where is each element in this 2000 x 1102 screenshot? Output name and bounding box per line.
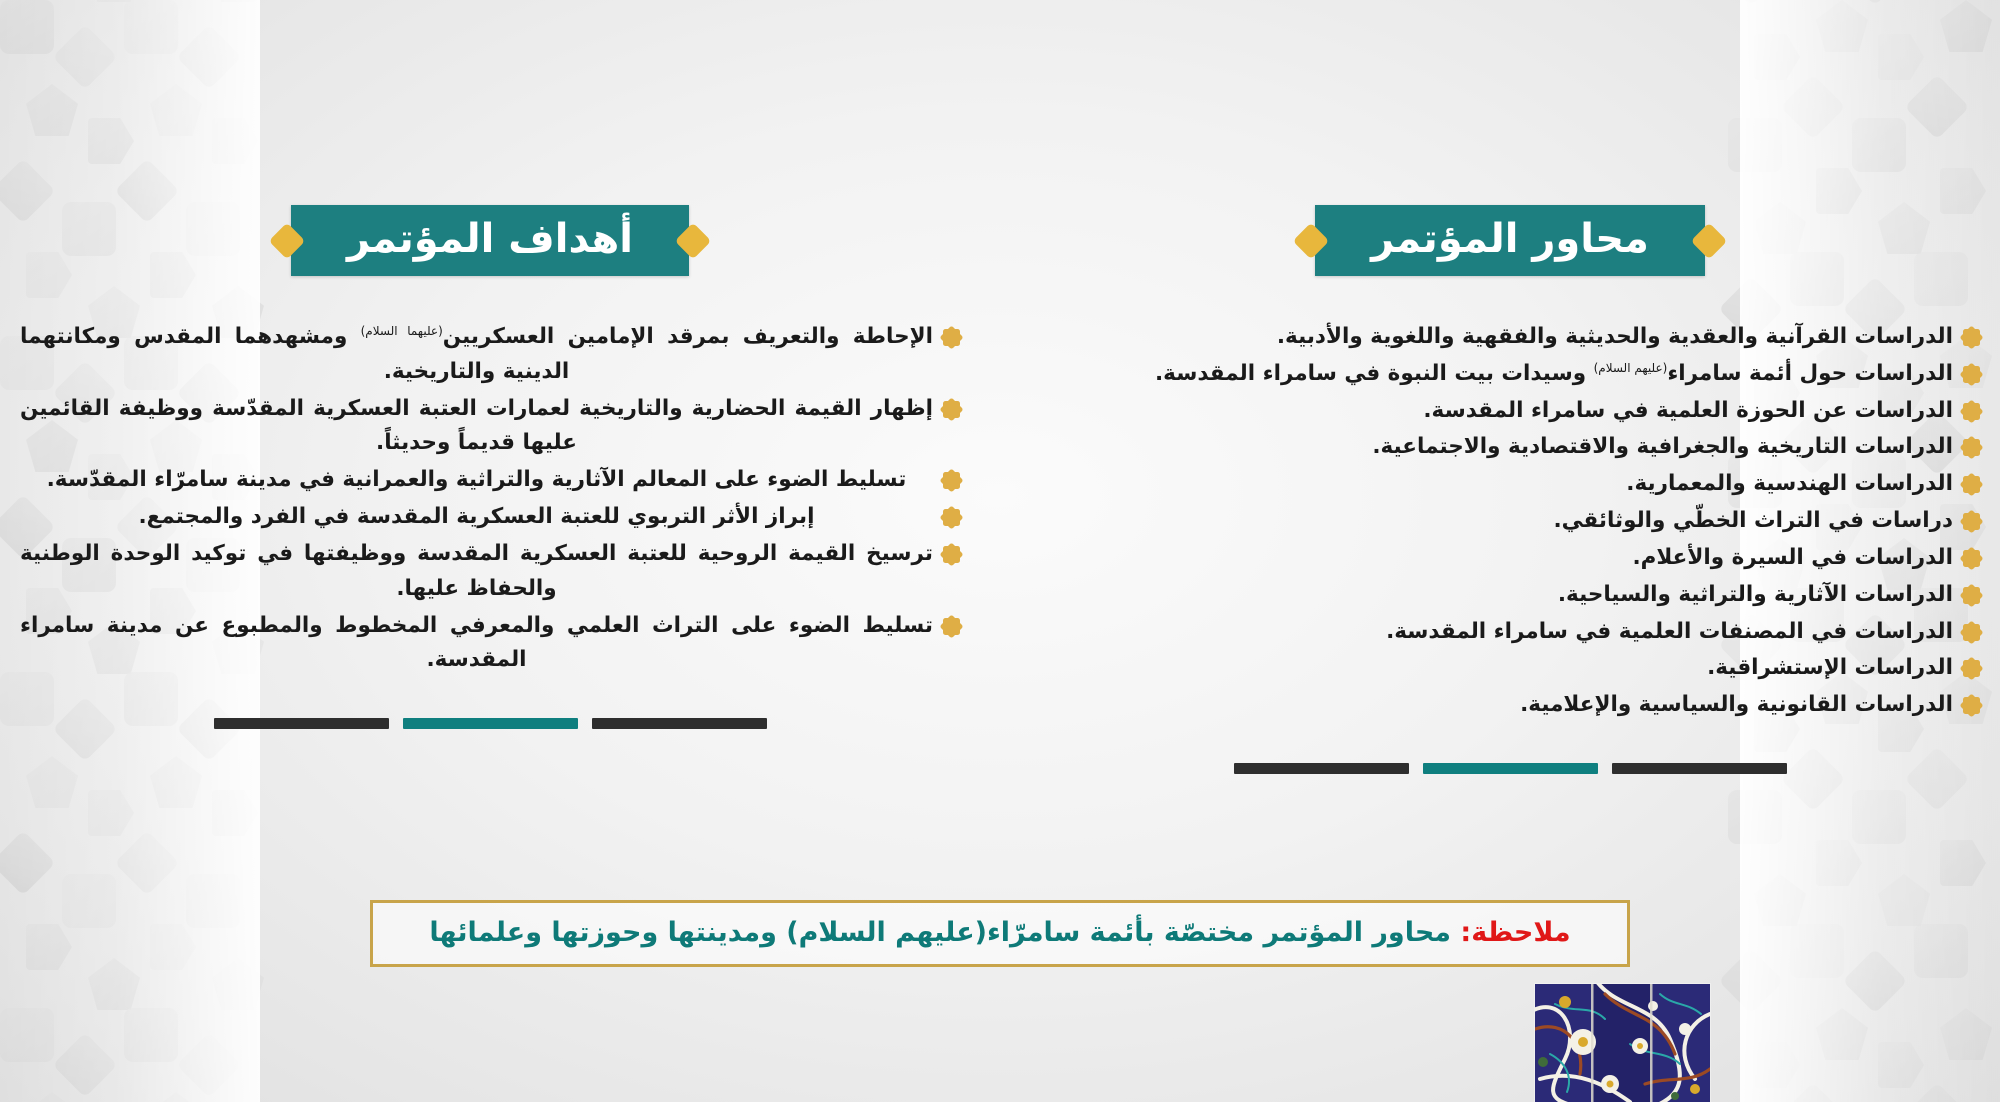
theme-item-text: الدراسات الآثارية والتراثية والسياحية. <box>1040 578 1953 613</box>
objective-item: تسليط الضوء على المعالم الآثارية والتراث… <box>20 463 960 498</box>
objective-item-text: تسليط الضوء على المعالم الآثارية والتراث… <box>20 463 933 498</box>
theme-item: الدراسات حول أئمة سامراء(عليهم السلام) و… <box>1040 357 1980 392</box>
conference-poster-slide: محاور المؤتمر الدراسات القرآنية والعقدية… <box>0 0 2000 1102</box>
objective-item: إظهار القيمة الحضارية والتاريخية لعمارات… <box>20 392 960 462</box>
themes-heading-group: محاور المؤتمر <box>1040 205 1980 276</box>
theme-item: الدراسات في السيرة والأعلام. <box>1040 541 1980 576</box>
objective-item-text: إبراز الأثر التربوي للعتبة العسكرية المق… <box>20 500 933 535</box>
divider-bar-dark <box>1612 763 1787 774</box>
star-bullet-icon <box>943 618 960 635</box>
star-bullet-icon <box>943 472 960 489</box>
divider-bar-dark <box>214 718 389 729</box>
objective-item: تسليط الضوء على التراث العلمي والمعرفي ا… <box>20 609 960 679</box>
objectives-list: الإحاطة والتعريف بمرقد الإمامين العسكريي… <box>20 320 960 678</box>
star-bullet-icon <box>1963 403 1980 420</box>
objectives-heading-plaque: أهداف المؤتمر <box>291 205 689 276</box>
objective-item-text: إظهار القيمة الحضارية والتاريخية لعمارات… <box>20 392 933 462</box>
theme-item-text: الدراسات حول أئمة سامراء(عليهم السلام) و… <box>1040 357 1953 392</box>
divider-bar-teal <box>403 718 578 729</box>
themes-list: الدراسات القرآنية والعقدية والحديثية وال… <box>1040 320 1980 723</box>
star-bullet-icon <box>1963 550 1980 567</box>
theme-item: الدراسات الهندسية والمعمارية. <box>1040 467 1980 502</box>
theme-item: الدراسات عن الحوزة العلمية في سامراء الم… <box>1040 394 1980 429</box>
star-bullet-icon <box>943 329 960 346</box>
theme-item-text: الدراسات القانونية والسياسية والإعلامية. <box>1040 688 1953 723</box>
objectives-heading-group: أهداف المؤتمر <box>20 205 960 276</box>
objective-item-text: ترسيخ القيمة الروحية للعتبة العسكرية الم… <box>20 537 933 607</box>
theme-item: الدراسات القرآنية والعقدية والحديثية وال… <box>1040 320 1980 355</box>
note-label: ملاحظة: <box>1460 917 1570 948</box>
objective-item-text: الإحاطة والتعريف بمرقد الإمامين العسكريي… <box>20 320 933 390</box>
objective-item-text: تسليط الضوء على التراث العلمي والمعرفي ا… <box>20 609 933 679</box>
note-text: محاور المؤتمر مختصّة بأئمة سامرّاء(عليهم… <box>429 917 1451 948</box>
themes-divider <box>1040 763 1980 774</box>
objective-item: إبراز الأثر التربوي للعتبة العسكرية المق… <box>20 500 960 535</box>
theme-item-text: الدراسات التاريخية والجغرافية والاقتصادي… <box>1040 430 1953 465</box>
islamic-floral-tile-artwork <box>1535 984 1710 1102</box>
star-bullet-icon <box>1963 476 1980 493</box>
theme-item: دراسات في التراث الخطّي والوثائقي. <box>1040 504 1980 539</box>
theme-item-text: الدراسات القرآنية والعقدية والحديثية وال… <box>1040 320 1953 355</box>
theme-item: الدراسات الإستشراقية. <box>1040 651 1980 686</box>
theme-item: الدراسات التاريخية والجغرافية والاقتصادي… <box>1040 430 1980 465</box>
honorific-mark: (عليهم السلام) <box>1594 361 1668 375</box>
star-bullet-icon <box>1963 366 1980 383</box>
star-bullet-icon <box>943 546 960 563</box>
theme-item-text: دراسات في التراث الخطّي والوثائقي. <box>1040 504 1953 539</box>
theme-item-text: الدراسات عن الحوزة العلمية في سامراء الم… <box>1040 394 1953 429</box>
theme-item-text: الدراسات في السيرة والأعلام. <box>1040 541 1953 576</box>
theme-item-text: الدراسات في المصنفات العلمية في سامراء ا… <box>1040 615 1953 650</box>
star-bullet-icon <box>1963 697 1980 714</box>
note-box: ملاحظة: محاور المؤتمر مختصّة بأئمة سامرّ… <box>370 900 1630 967</box>
theme-item-text: الدراسات الهندسية والمعمارية. <box>1040 467 1953 502</box>
star-bullet-icon <box>943 509 960 526</box>
star-bullet-icon <box>1963 660 1980 677</box>
theme-item: الدراسات القانونية والسياسية والإعلامية. <box>1040 688 1980 723</box>
objective-item: ترسيخ القيمة الروحية للعتبة العسكرية الم… <box>20 537 960 607</box>
theme-item: الدراسات الآثارية والتراثية والسياحية. <box>1040 578 1980 613</box>
objective-item: الإحاطة والتعريف بمرقد الإمامين العسكريي… <box>20 320 960 390</box>
star-bullet-icon <box>1963 513 1980 530</box>
theme-item-text: الدراسات الإستشراقية. <box>1040 651 1953 686</box>
themes-heading-plaque: محاور المؤتمر <box>1315 205 1705 276</box>
star-bullet-icon <box>1963 624 1980 641</box>
star-bullet-icon <box>1963 439 1980 456</box>
divider-bar-teal <box>1423 763 1598 774</box>
divider-bar-dark <box>1234 763 1409 774</box>
star-bullet-icon <box>1963 587 1980 604</box>
objectives-divider <box>20 718 960 729</box>
star-bullet-icon <box>943 401 960 418</box>
theme-item: الدراسات في المصنفات العلمية في سامراء ا… <box>1040 615 1980 650</box>
honorific-mark: (عليهما السلام) <box>361 324 443 338</box>
star-bullet-icon <box>1963 329 1980 346</box>
divider-bar-dark <box>592 718 767 729</box>
